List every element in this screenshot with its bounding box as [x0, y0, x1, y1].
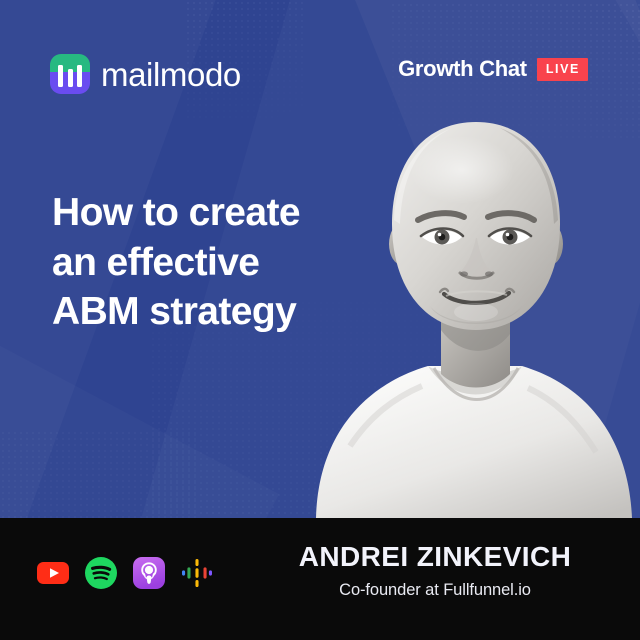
brand-wordmark: mailmodo — [101, 58, 241, 91]
speaker-info: ANDREI ZINKEVICH Co-founder at Fullfunne… — [255, 542, 615, 600]
promo-card: mailmodo Growth Chat LIVE How to create … — [0, 0, 640, 640]
speaker-name: ANDREI ZINKEVICH — [255, 542, 615, 573]
hero-stage: mailmodo Growth Chat LIVE How to create … — [0, 0, 640, 518]
logo-bar-2 — [68, 69, 73, 87]
social-links — [36, 556, 214, 590]
speaker-portrait — [310, 116, 640, 518]
live-badge: LIVE — [537, 58, 588, 81]
mailmodo-logo-icon — [50, 54, 90, 94]
show-tag: Growth Chat LIVE — [398, 58, 588, 81]
speaker-role: Co-founder at Fullfunnel.io — [255, 581, 615, 600]
logo-bar-3 — [77, 65, 82, 87]
brand-logo[interactable]: mailmodo — [50, 54, 241, 94]
spotify-icon[interactable] — [84, 556, 118, 590]
apple-podcasts-icon[interactable] — [132, 556, 166, 590]
bg-dot-grid-4 — [0, 430, 200, 518]
show-name: Growth Chat — [398, 58, 527, 80]
youtube-icon[interactable] — [36, 556, 70, 590]
logo-bar-1 — [58, 65, 63, 87]
google-podcasts-icon[interactable] — [180, 556, 214, 590]
